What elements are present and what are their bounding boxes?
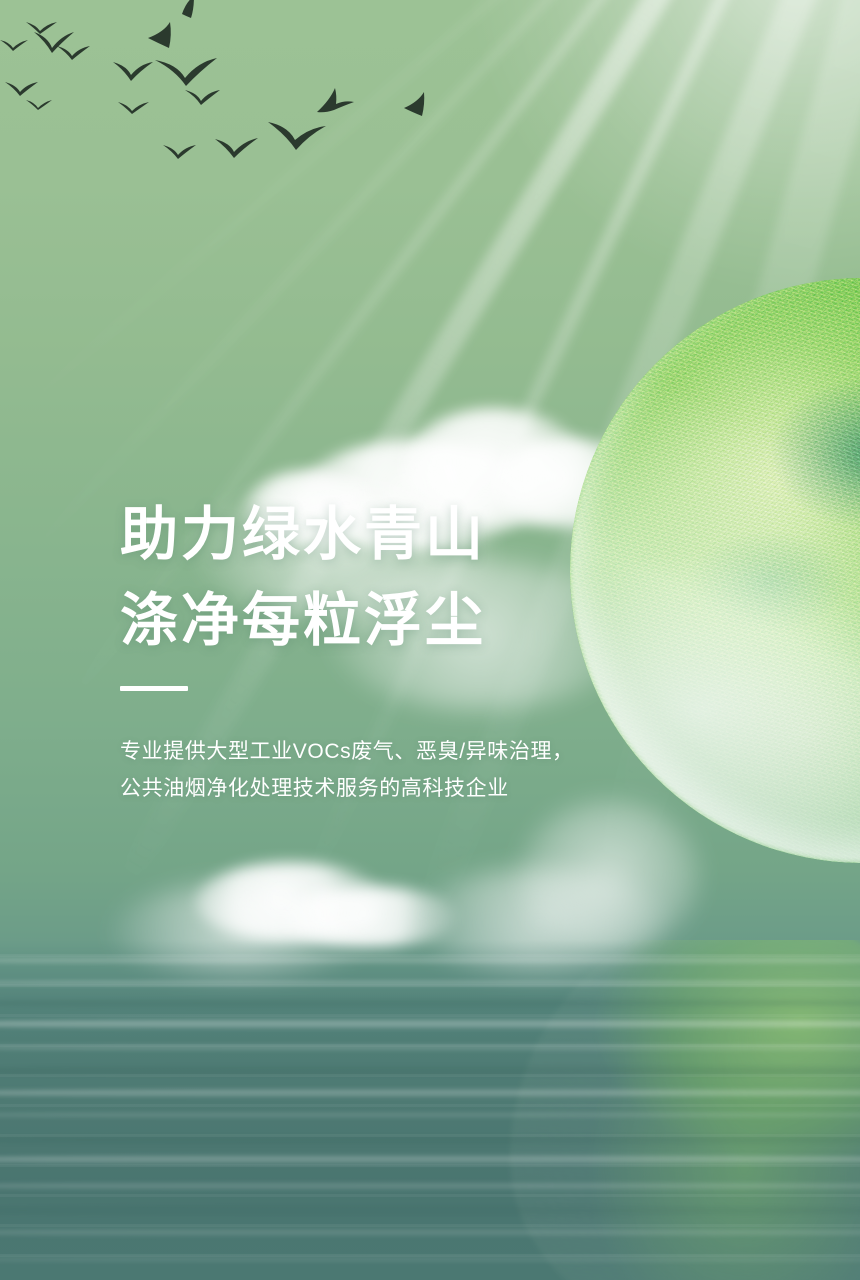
headline-divider bbox=[120, 686, 188, 691]
headline-block: 助力绿水青山 涤净每粒浮尘 专业提供大型工业VOCs废气、恶臭/异味治理， 公共… bbox=[120, 492, 640, 807]
bird-flock bbox=[0, 0, 520, 180]
headline-line-1: 助力绿水青山 bbox=[120, 492, 640, 578]
subtitle-line-2: 公共油烟净化处理技术服务的高科技企业 bbox=[120, 770, 640, 807]
headline-line-2: 涤净每粒浮尘 bbox=[120, 578, 640, 664]
eco-promo-banner: 助力绿水青山 涤净每粒浮尘 专业提供大型工业VOCs废气、恶臭/异味治理， 公共… bbox=[0, 0, 860, 1280]
water-surface bbox=[0, 940, 860, 1280]
subtitle-line-1: 专业提供大型工业VOCs废气、恶臭/异味治理， bbox=[120, 733, 640, 770]
